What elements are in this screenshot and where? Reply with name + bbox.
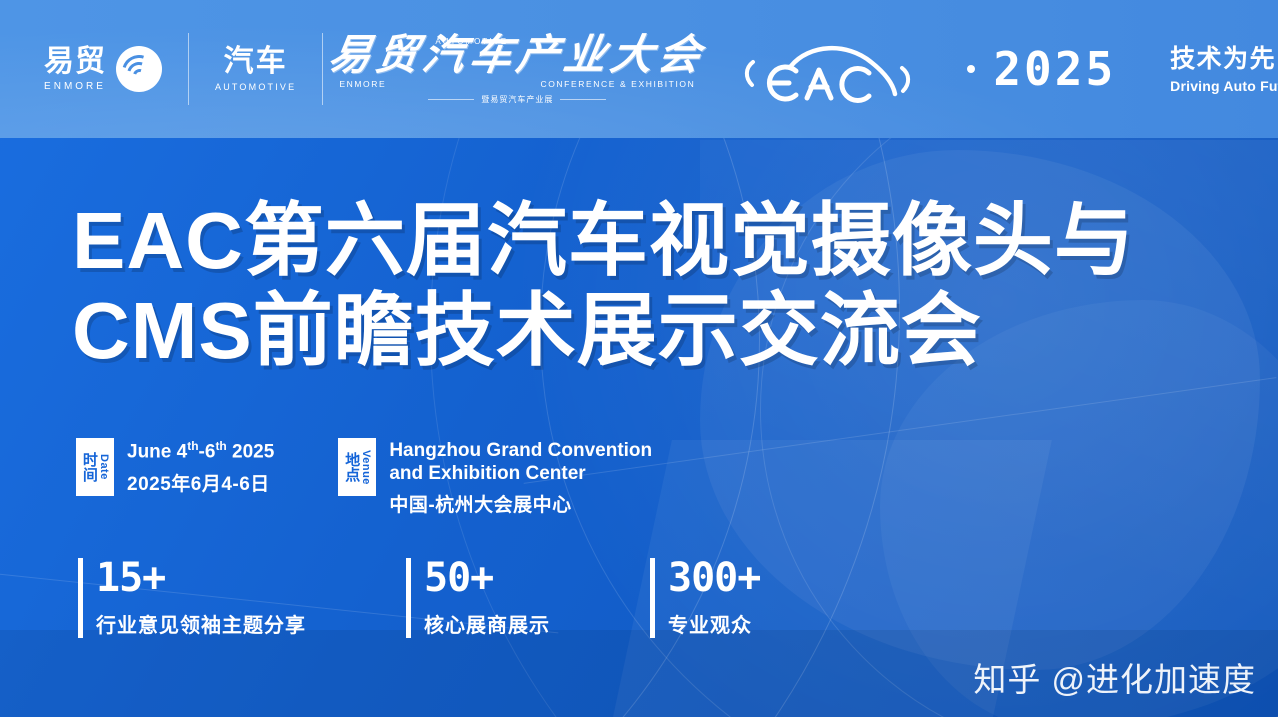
eac-2025-logo: 2025 (711, 32, 1144, 106)
date-secondary: 2025年6月4-6日 (127, 469, 274, 496)
venue-secondary: 中国-杭州大会展中心 (389, 490, 652, 517)
stat-accent-bar (650, 558, 655, 638)
eac-separator-dot (967, 65, 975, 73)
stat-number: 50+ (424, 558, 550, 598)
enmore-logo-en: ENMORE (44, 82, 106, 92)
header-slogan: 技术为先，商业共赢 Driving Auto Future by Tech In… (1144, 44, 1278, 94)
event-title: EAC第六届汽车视觉摄像头与 CMS前瞻技术展示交流会 (72, 196, 1232, 375)
enmore-automotive-logo: 易贸 ENMORE 汽车 AUTOMOTIVE (0, 33, 296, 105)
zhihu-watermark: 知乎 @进化加速度 (973, 653, 1256, 701)
slogan-en: Driving Auto Future by Tech Innovation (1170, 78, 1278, 94)
conference-banner: 易贸 ENMORE 汽车 AUTOMOTIVE AUTOMOTIVE 易贸汽车产… (0, 0, 1278, 717)
venue-tag-en: Venue (360, 450, 371, 485)
calligraphy-tag-left: ENMORE (339, 79, 386, 89)
enmore-logo-cn: 易贸 (44, 47, 106, 77)
date-tag-cn: 时间 (81, 452, 97, 482)
stat-item-exhibitors: 50+ 核心展商展示 (406, 558, 550, 638)
automotive-label-cn: 汽车 (224, 47, 288, 77)
stat-number: 15+ (96, 558, 306, 598)
event-info-row: 时间 Date June 4th-6th 2025 2025年6月4-6日 地点… (76, 438, 652, 517)
eac-car-outline-icon (739, 32, 949, 106)
slogan-cn: 技术为先，商业共赢 (1170, 44, 1278, 74)
enmore-wave-icon (116, 46, 162, 92)
eac-year: 2025 (993, 46, 1116, 92)
header-divider-1 (188, 33, 189, 105)
event-title-line-1: EAC第六届汽车视觉摄像头与 (72, 196, 1135, 285)
calligraphy-rule-left (428, 99, 474, 100)
date-tag-en: Date (98, 454, 109, 480)
banner-header: 易贸 ENMORE 汽车 AUTOMOTIVE AUTOMOTIVE 易贸汽车产… (0, 0, 1278, 138)
stat-accent-bar (406, 558, 411, 638)
calligraphy-subtitle: 暨易贸汽车产业展 (481, 94, 553, 105)
calligraphy-tag-right: CONFERENCE & EXHIBITION (540, 79, 695, 89)
date-primary-sup-2: th (215, 439, 226, 453)
automotive-wordmark: 汽车 AUTOMOTIVE (215, 47, 296, 92)
venue-tag-badge: 地点 Venue (338, 438, 376, 496)
stat-label: 核心展商展示 (424, 609, 550, 638)
venue-tag-cn: 地点 (343, 452, 359, 482)
calligraphy-rule-right (560, 99, 606, 100)
date-tag-badge: 时间 Date (76, 438, 114, 496)
event-title-line-2: CMS前瞻技术展示交流会 (72, 286, 1232, 376)
stat-item-speakers: 15+ 行业意见领袖主题分享 (78, 558, 306, 638)
stat-number: 300+ (668, 558, 760, 598)
venue-primary-line-2: and Exhibition Center (389, 462, 652, 485)
stat-label: 行业意见领袖主题分享 (96, 609, 306, 638)
date-primary-mid: -6 (199, 441, 216, 462)
stat-item-visitors: 300+ 专业观众 (650, 558, 760, 638)
event-venue-block: 地点 Venue Hangzhou Grand Convention and E… (338, 438, 652, 517)
stat-label: 专业观众 (668, 609, 760, 638)
enmore-wordmark: 易贸 ENMORE (44, 47, 106, 92)
venue-primary-line-1: Hangzhou Grand Convention (389, 439, 652, 462)
calligraphy-title: 易贸汽车产业大会 (326, 33, 709, 77)
event-stats-row: 15+ 行业意见领袖主题分享 50+ 核心展商展示 300+ 专业观众 (78, 558, 760, 638)
date-primary-pre: June 4 (127, 441, 187, 462)
date-primary-sup-1: th (187, 439, 198, 453)
automotive-label-en: AUTOMOTIVE (215, 83, 296, 92)
date-primary-post: 2025 (227, 441, 275, 462)
conference-calligraphy-logo: AUTOMOTIVE 易贸汽车产业大会 ENMORE CONFERENCE & … (323, 33, 711, 105)
date-primary: June 4th-6th 2025 (127, 439, 274, 464)
event-date-block: 时间 Date June 4th-6th 2025 2025年6月4-6日 (76, 438, 274, 517)
stat-accent-bar (78, 558, 83, 638)
